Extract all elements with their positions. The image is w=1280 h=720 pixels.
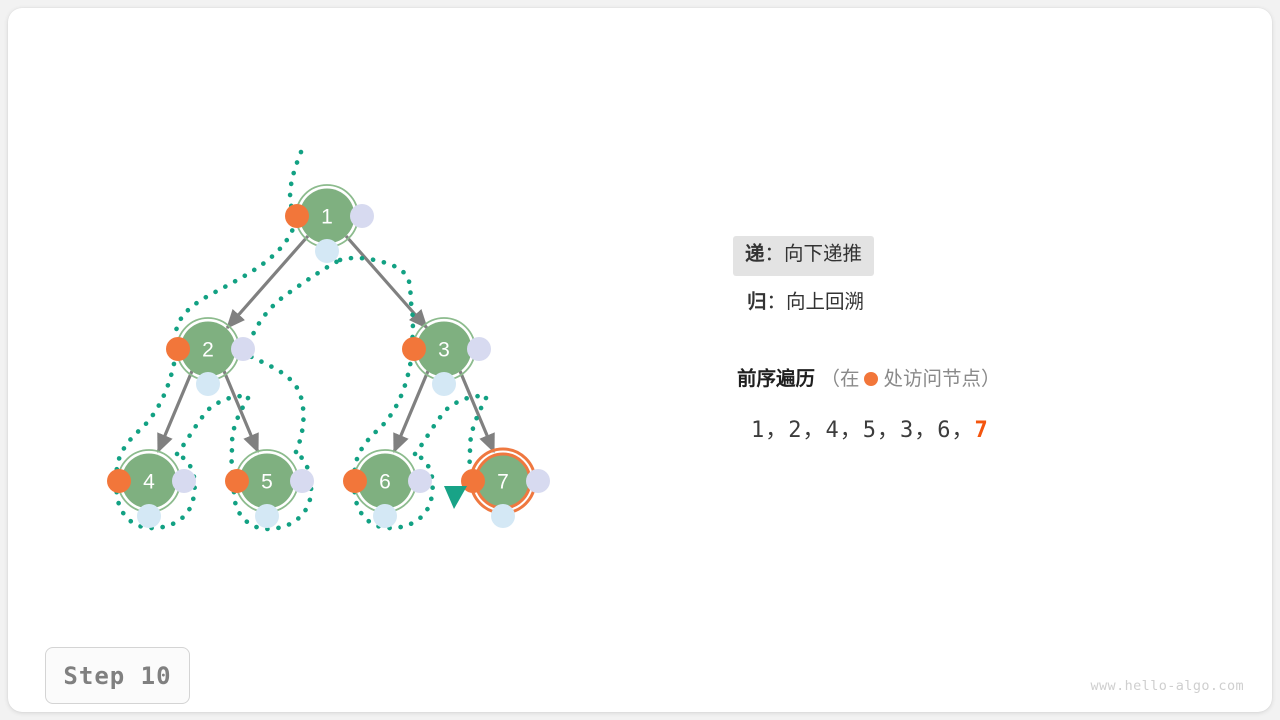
- node-2-visit-dot: [166, 337, 190, 361]
- node-4-visit-dot: [107, 469, 131, 493]
- figure-canvas: 1 2 3: [0, 0, 1280, 720]
- visit-dot-icon: [864, 372, 878, 386]
- node-7-child-right-dot: [526, 469, 550, 493]
- node-3-child-right-dot: [467, 337, 491, 361]
- legend-recursion-down-separator: ：: [765, 243, 785, 265]
- legend-recursion-up: 归：向上回溯: [735, 284, 1215, 324]
- edge-1-3: [346, 236, 427, 328]
- edge-3-7: [460, 371, 494, 452]
- node-6-child-bottom-dot: [373, 504, 397, 528]
- node-4-child-bottom-dot: [137, 504, 161, 528]
- traversal-info: 前序遍历 （在处访问节点） 1，2，4，5，3，6，7: [737, 370, 1237, 444]
- node-2-child-bottom-dot: [196, 372, 220, 396]
- binary-tree-diagram: 1 2 3: [8, 8, 1272, 712]
- legend-recursion-down-keyword: 递: [745, 243, 765, 265]
- node-6-child-right-dot: [408, 469, 432, 493]
- legend-recursion-down-text: 向下递推: [784, 243, 862, 265]
- traversal-name: 前序遍历: [737, 368, 815, 390]
- traversal-note-suffix: 处访问节点）: [883, 368, 1000, 390]
- step-label: Step 10: [63, 662, 171, 690]
- node-7-child-bottom-dot: [491, 504, 515, 528]
- node-3-visit-dot: [402, 337, 426, 361]
- node-1-child-bottom-dot: [315, 239, 339, 263]
- legend-recursion-up-keyword: 归: [747, 291, 767, 313]
- node-3-label: 3: [438, 339, 450, 362]
- node-6-visit-dot: [343, 469, 367, 493]
- node-5-visit-dot: [225, 469, 249, 493]
- tree-node-3[interactable]: 3: [402, 318, 491, 396]
- node-1-label: 1: [321, 206, 333, 229]
- watermark: www.hello-algo.com: [1091, 678, 1245, 694]
- legend-recursion-down: 递：向下递推: [733, 236, 874, 276]
- pointer-triangle-icon: [444, 486, 467, 509]
- legend-recursion-up-separator: ：: [767, 291, 787, 313]
- node-4-child-right-dot: [172, 469, 196, 493]
- watermark-text: www.hello-algo.com: [1091, 678, 1245, 694]
- traversal-title-row: 前序遍历 （在处访问节点）: [737, 370, 1237, 390]
- node-5-child-right-dot: [290, 469, 314, 493]
- legend-recursion-up-text: 向上回溯: [786, 291, 864, 313]
- traversal-note-prefix: （在: [820, 368, 859, 390]
- traversal-sequence: 1，2，4，5，3，6，7: [751, 412, 1237, 444]
- node-2-label: 2: [202, 339, 214, 362]
- edge-2-5: [224, 371, 258, 452]
- recursion-legend: 递：向下递推 归：向上回溯: [735, 236, 1215, 323]
- figure-card: 1 2 3: [8, 8, 1272, 712]
- traversal-sequence-current: 7: [974, 418, 988, 443]
- step-badge: Step 10: [45, 647, 190, 704]
- node-7-label: 7: [497, 471, 509, 494]
- node-6-label: 6: [379, 471, 391, 494]
- current-node-pointer: [444, 486, 467, 509]
- edge-2-4: [158, 371, 192, 452]
- tree-node-7[interactable]: 7: [461, 449, 550, 528]
- node-2-child-right-dot: [231, 337, 255, 361]
- legend-recursion-down-row: 递：向下递推: [735, 236, 1215, 276]
- node-4-label: 4: [143, 471, 155, 494]
- tree-node-2[interactable]: 2: [166, 318, 255, 396]
- path-segment-2-right-up: [246, 260, 340, 354]
- edge-3-6: [394, 371, 428, 452]
- path-segment-5-up-to-root: [246, 354, 303, 452]
- node-3-child-bottom-dot: [432, 372, 456, 396]
- traversal-sequence-prev: 1，2，4，5，3，6，: [751, 418, 974, 443]
- tree-nodes: 1 2 3: [107, 185, 550, 528]
- tree-node-5[interactable]: 5: [225, 450, 314, 528]
- node-1-visit-dot: [285, 204, 309, 228]
- node-5-label: 5: [261, 471, 273, 494]
- node-5-child-bottom-dot: [255, 504, 279, 528]
- node-1-child-right-dot: [350, 204, 374, 228]
